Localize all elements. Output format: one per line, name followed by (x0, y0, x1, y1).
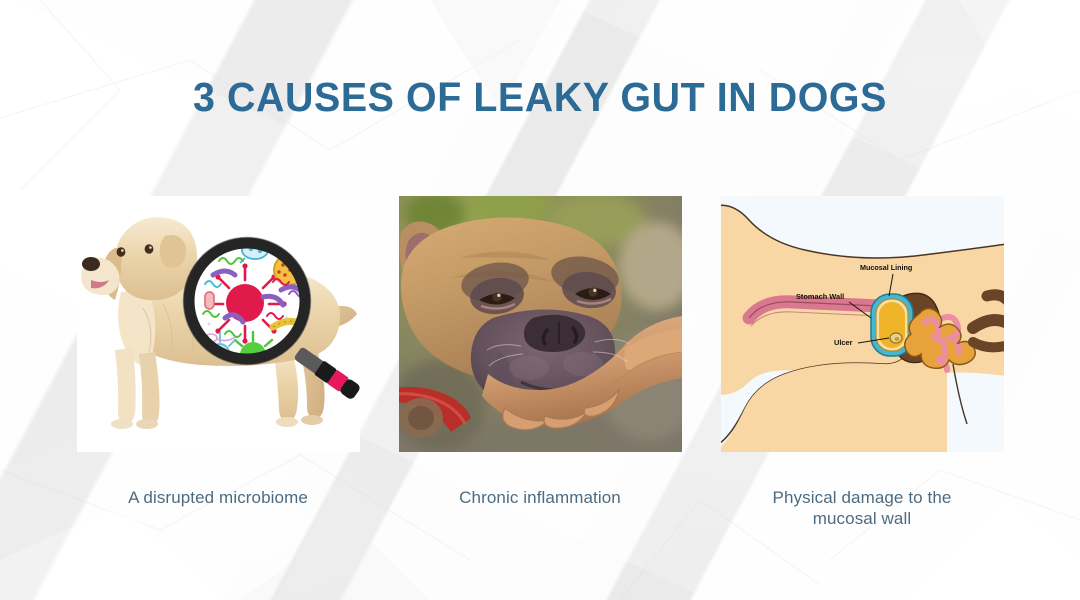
card-caption-inflammation: Chronic inflammation (399, 487, 682, 508)
cause-card-inflammation: Chronic inflammation (399, 196, 682, 530)
card-caption-mucosal-damage: Physical damage to the mucosal wall (721, 487, 1004, 530)
page-title: 3 CAUSES OF LEAKY GUT IN DOGS (22, 74, 1059, 121)
mucosal-damage-image: Mucosal Lining Stomach Wall Ulcer (721, 196, 1004, 452)
ulcer-label: Ulcer (834, 338, 853, 347)
french-bulldog-photo-illustration (399, 196, 682, 452)
caption-line-2: mucosal wall (813, 509, 912, 528)
cause-card-microbiome: A disrupted microbiome (77, 196, 360, 530)
causes-card-row: A disrupted microbiome (0, 196, 1080, 530)
inflammation-image (399, 196, 682, 452)
caption-line-1: Physical damage to the (773, 488, 952, 507)
mucosal-lining-label: Mucosal Lining (860, 263, 912, 272)
dog-digestive-anatomy-diagram: Mucosal Lining Stomach Wall Ulcer (721, 196, 1004, 452)
golden-retriever-illustration (77, 196, 360, 452)
microbiome-image (77, 196, 360, 452)
infographic-page: 3 CAUSES OF LEAKY GUT IN DOGS (0, 0, 1080, 600)
stomach-wall-label: Stomach Wall (796, 292, 844, 301)
cause-card-mucosal-damage: Mucosal Lining Stomach Wall Ulcer Physic… (721, 196, 1004, 530)
card-caption-microbiome: A disrupted microbiome (77, 487, 360, 508)
